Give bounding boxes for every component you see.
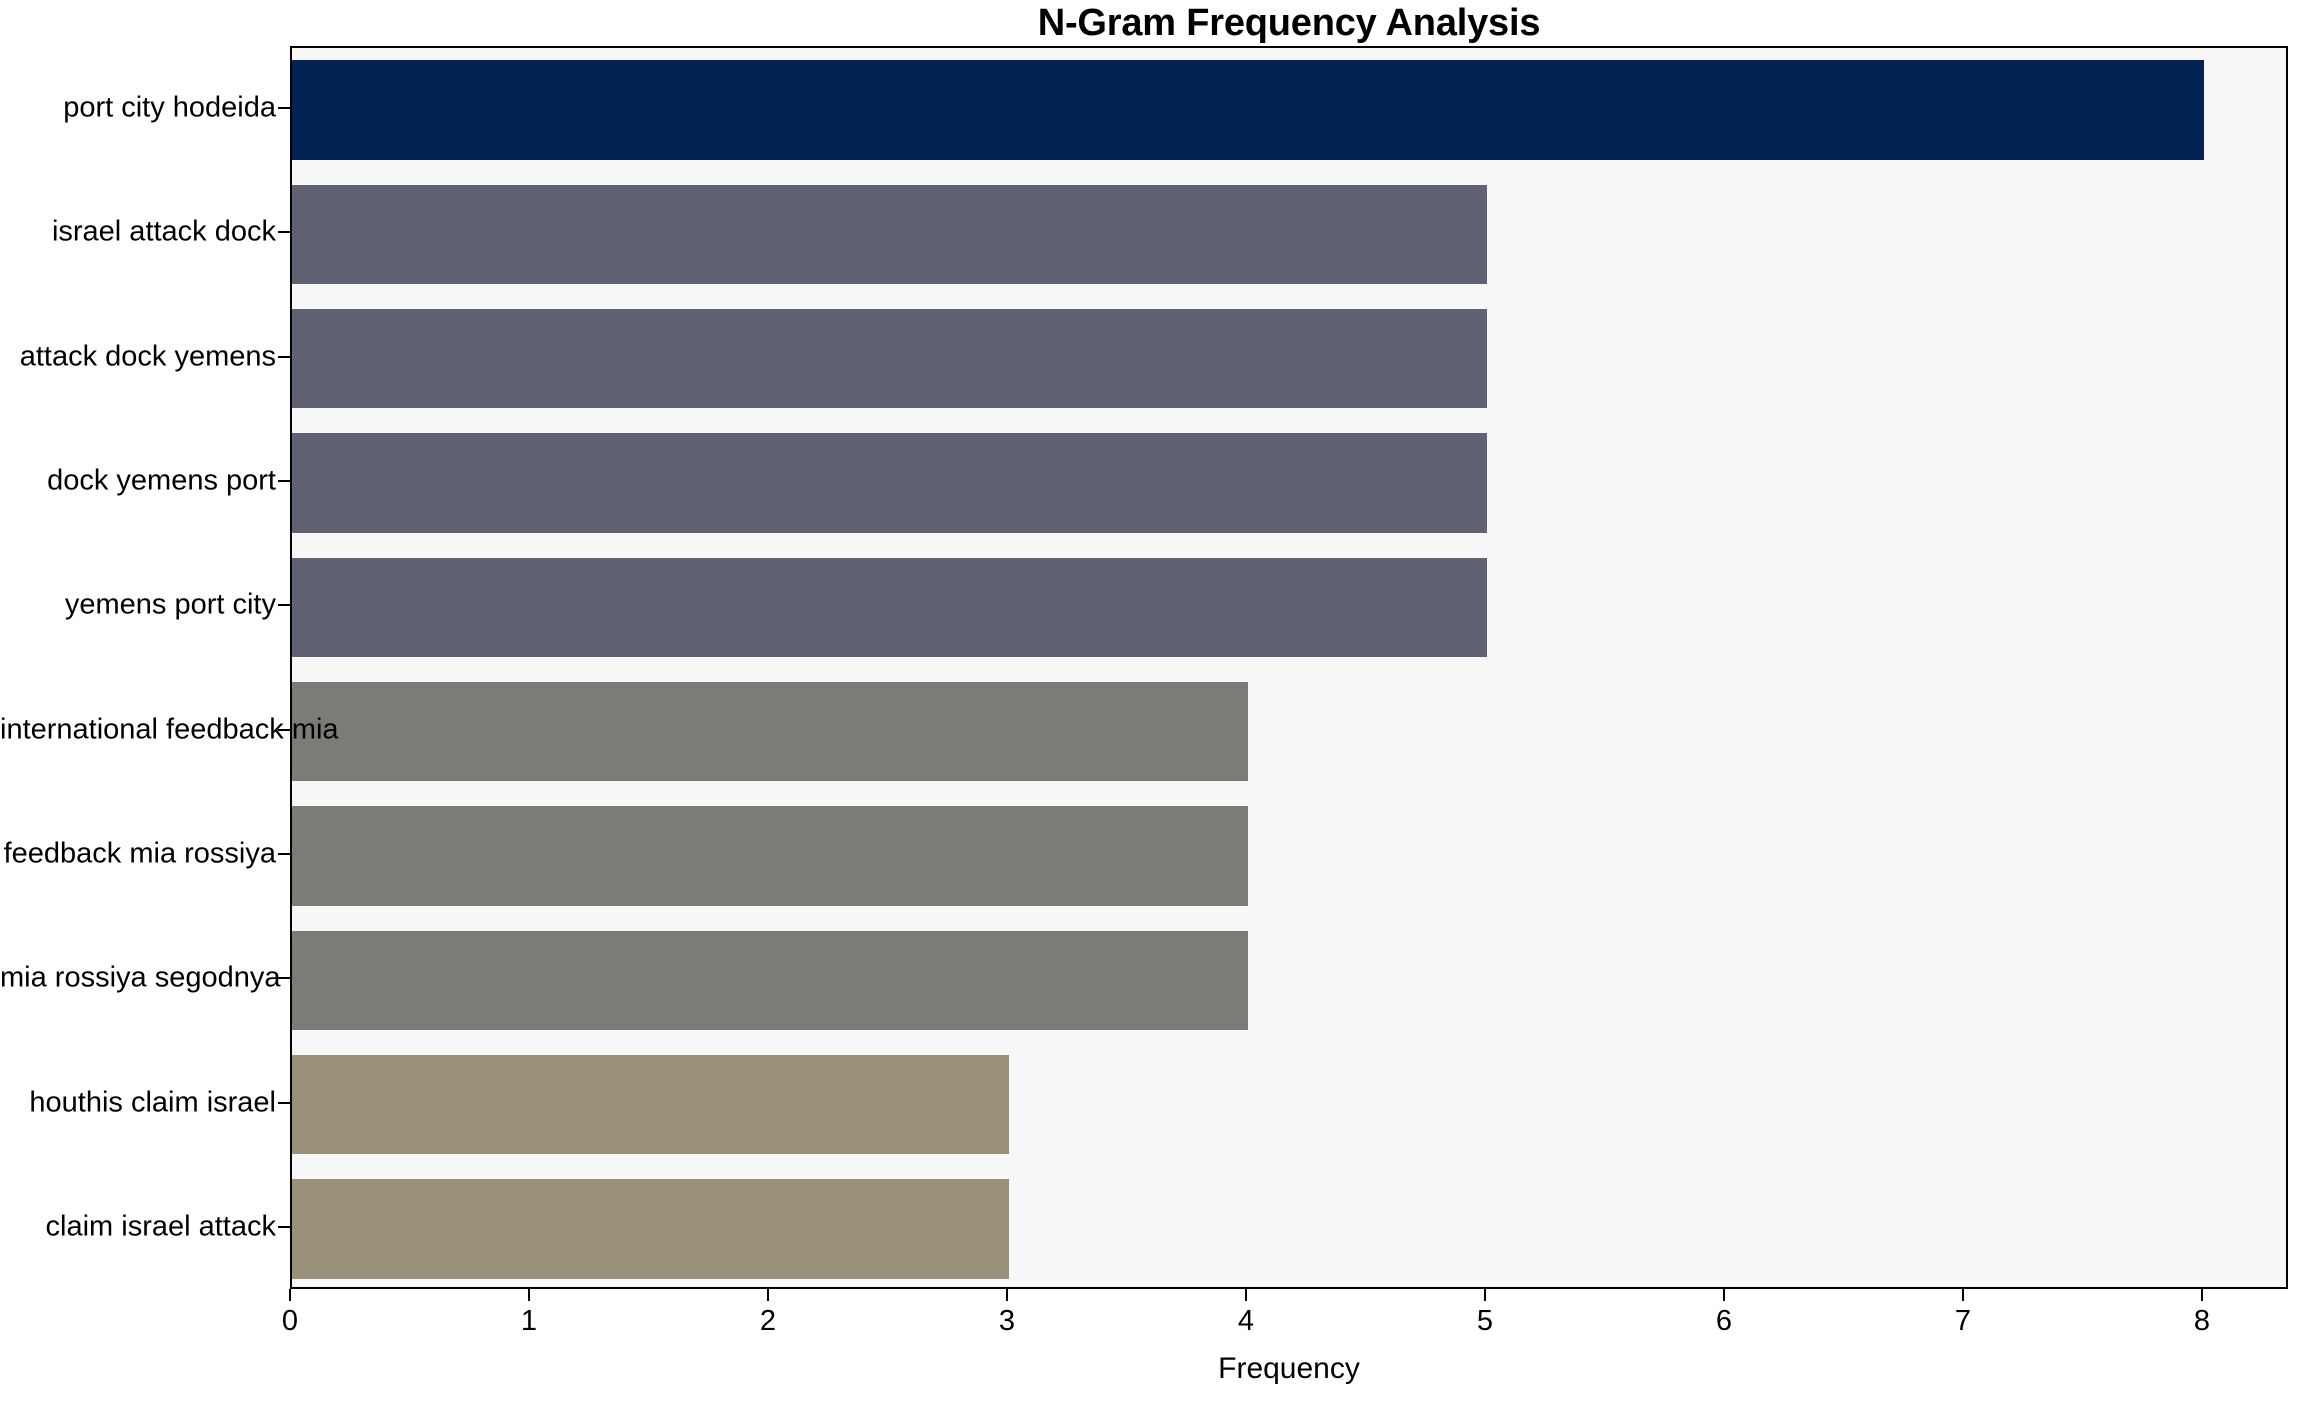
x-axis-tick-label: 1 — [521, 1305, 537, 1338]
y-axis-tick-mark — [278, 480, 290, 482]
x-axis-ticks: 012345678 — [0, 1289, 2308, 1349]
x-axis-title: Frequency — [290, 1352, 2288, 1386]
x-axis-tick-label: 4 — [1238, 1305, 1254, 1338]
y-axis-tick-mark — [278, 1226, 290, 1228]
y-axis-tick-mark — [278, 107, 290, 109]
y-axis-tick-mark — [278, 729, 290, 731]
y-axis-tick-label: port city hodeida — [0, 92, 276, 125]
x-axis-tick-label: 3 — [999, 1305, 1015, 1338]
y-axis-tick-mark — [278, 1102, 290, 1104]
x-axis-tick-mark — [1484, 1289, 1486, 1301]
y-axis-tick-mark — [278, 977, 290, 979]
y-axis-tick-label: feedback mia rossiya — [0, 837, 276, 870]
x-axis-tick-label: 8 — [2194, 1305, 2210, 1338]
x-axis-tick-label: 7 — [1955, 1305, 1971, 1338]
x-axis-tick-mark — [767, 1289, 769, 1301]
y-axis-labels: port city hodeidaisrael attack dockattac… — [0, 46, 276, 1289]
y-axis-tick-label: mia rossiya segodnya — [0, 962, 276, 995]
x-axis-tick-mark — [528, 1289, 530, 1301]
x-axis-tick-label: 5 — [1477, 1305, 1493, 1338]
x-axis-tick-mark — [1723, 1289, 1725, 1301]
y-axis-tick-mark — [278, 853, 290, 855]
plot-area — [290, 46, 2288, 1289]
y-axis-tick-label: houthis claim israel — [0, 1086, 276, 1119]
y-axis-tick-label: israel attack dock — [0, 216, 276, 249]
x-axis-tick-mark — [1962, 1289, 1964, 1301]
y-axis-tick-label: attack dock yemens — [0, 340, 276, 373]
bars-layer — [292, 48, 2286, 1287]
y-axis-tick-mark — [278, 604, 290, 606]
bar — [292, 309, 1487, 408]
y-axis-tick-label: claim israel attack — [0, 1210, 276, 1243]
x-axis-tick-mark — [2201, 1289, 2203, 1301]
x-axis-tick-mark — [289, 1289, 291, 1301]
x-axis-tick-mark — [1245, 1289, 1247, 1301]
bar — [292, 806, 1248, 905]
y-axis-tick-label: yemens port city — [0, 589, 276, 622]
bar — [292, 931, 1248, 1030]
bar — [292, 558, 1487, 657]
y-axis-tick-mark — [278, 231, 290, 233]
x-axis-tick-label: 0 — [282, 1305, 298, 1338]
chart-title: N-Gram Frequency Analysis — [290, 2, 2288, 45]
y-axis-tick-label: dock yemens port — [0, 465, 276, 498]
x-axis-tick-label: 2 — [760, 1305, 776, 1338]
bar — [292, 185, 1487, 284]
bar — [292, 433, 1487, 532]
x-axis-tick-mark — [1006, 1289, 1008, 1301]
y-axis-tick-mark — [278, 356, 290, 358]
x-axis-tick-label: 6 — [1716, 1305, 1732, 1338]
bar — [292, 1055, 1009, 1154]
bar — [292, 60, 2204, 159]
bar — [292, 1179, 1009, 1278]
bar — [292, 682, 1248, 781]
y-axis-tick-label: international feedback mia — [0, 713, 276, 746]
chart-figure: N-Gram Frequency Analysis port city hode… — [0, 0, 2308, 1414]
